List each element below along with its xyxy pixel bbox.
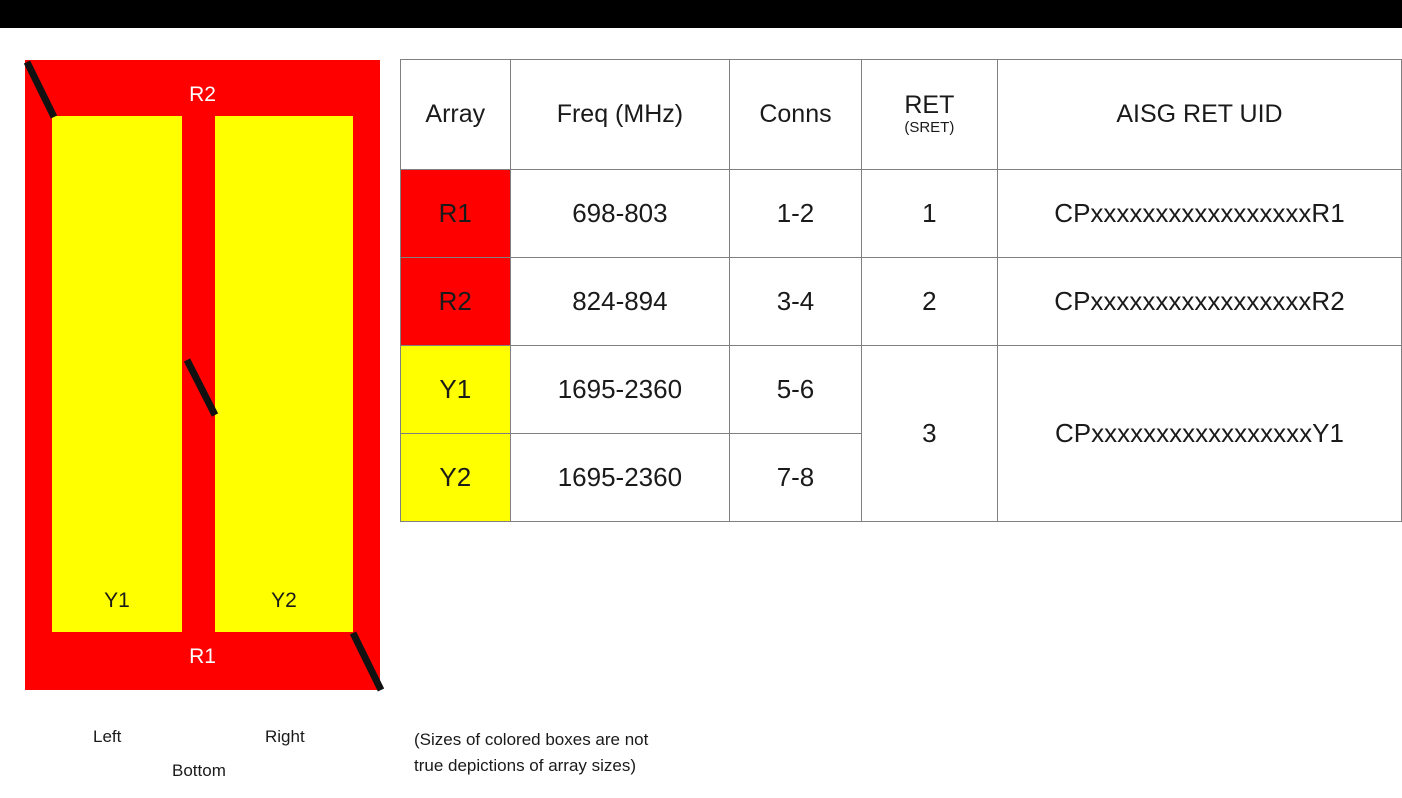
cell-uid-y1-y2: CPxxxxxxxxxxxxxxxxxY1 xyxy=(997,346,1401,522)
table-row: Y1 1695-2360 5-6 3 CPxxxxxxxxxxxxxxxxxY1 xyxy=(401,346,1402,434)
diagram-caption: (Sizes of colored boxes are not true dep… xyxy=(414,727,834,780)
column-header-aisg-ret-uid: AISG RET UID xyxy=(997,60,1401,170)
diagram-label-r2: R2 xyxy=(25,84,380,105)
caption-line-1: (Sizes of colored boxes are not xyxy=(414,727,834,753)
column-header-ret-sub: (SRET) xyxy=(862,118,997,138)
orientation-label-bottom: Bottom xyxy=(172,761,226,781)
antenna-array-diagram: R2 R1 Y1 Y2 xyxy=(25,60,380,690)
column-header-conns: Conns xyxy=(730,60,861,170)
cell-array-y1: Y1 xyxy=(401,346,511,434)
orientation-label-left: Left xyxy=(93,727,121,747)
column-header-ret-main: RET xyxy=(862,92,997,118)
cell-ret-r1: 1 xyxy=(861,170,997,258)
cell-conns-r2: 3-4 xyxy=(730,258,861,346)
table-header-row: Array Freq (MHz) Conns RET (SRET) AISG R… xyxy=(401,60,1402,170)
antenna-array-box-y1 xyxy=(52,116,182,632)
cell-array-r2: R2 xyxy=(401,258,511,346)
cell-uid-r2: CPxxxxxxxxxxxxxxxxxR2 xyxy=(997,258,1401,346)
antenna-spec-table: Array Freq (MHz) Conns RET (SRET) AISG R… xyxy=(400,59,1402,522)
cell-array-r1: R1 xyxy=(401,170,511,258)
cell-freq-r1: 698-803 xyxy=(510,170,730,258)
diagram-label-r1: R1 xyxy=(25,646,380,667)
cell-uid-r1: CPxxxxxxxxxxxxxxxxxR1 xyxy=(997,170,1401,258)
cell-conns-y2: 7-8 xyxy=(730,434,861,522)
caption-line-2: true depictions of array sizes) xyxy=(414,753,834,779)
top-black-bar xyxy=(0,0,1402,28)
diagram-label-y2: Y2 xyxy=(215,590,353,611)
diagram-label-y1: Y1 xyxy=(52,590,182,611)
cell-ret-y1-y2: 3 xyxy=(861,346,997,522)
cell-freq-r2: 824-894 xyxy=(510,258,730,346)
cell-conns-r1: 1-2 xyxy=(730,170,861,258)
orientation-label-right: Right xyxy=(265,727,305,747)
cell-ret-r2: 2 xyxy=(861,258,997,346)
table-row: R1 698-803 1-2 1 CPxxxxxxxxxxxxxxxxxR1 xyxy=(401,170,1402,258)
column-header-array: Array xyxy=(401,60,511,170)
column-header-freq: Freq (MHz) xyxy=(510,60,730,170)
cell-array-y2: Y2 xyxy=(401,434,511,522)
cell-freq-y2: 1695-2360 xyxy=(510,434,730,522)
cell-freq-y1: 1695-2360 xyxy=(510,346,730,434)
table-row: R2 824-894 3-4 2 CPxxxxxxxxxxxxxxxxxR2 xyxy=(401,258,1402,346)
cell-conns-y1: 5-6 xyxy=(730,346,861,434)
antenna-array-box-y2 xyxy=(215,116,353,632)
column-header-ret: RET (SRET) xyxy=(861,60,997,170)
